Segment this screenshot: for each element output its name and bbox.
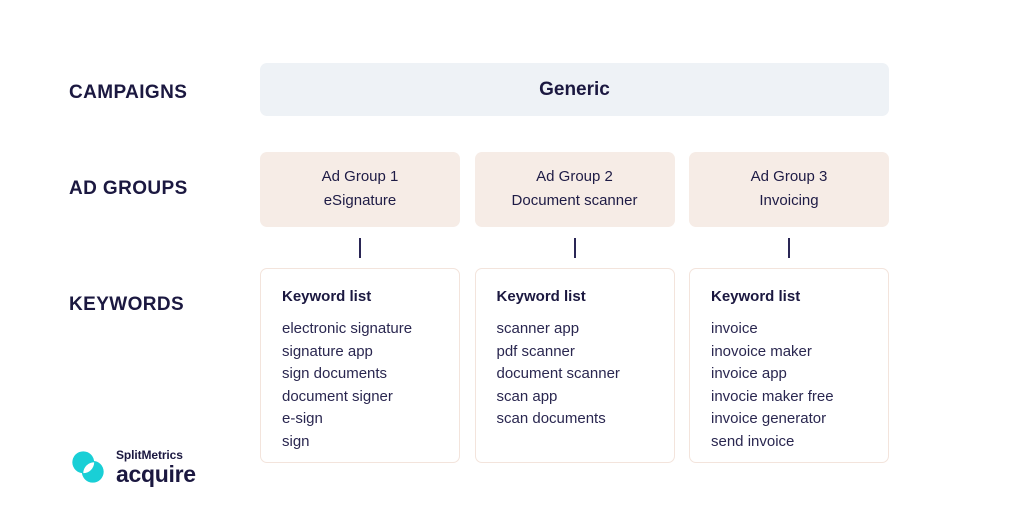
campaign-box: Generic [260, 63, 889, 116]
row-label-ad-groups: AD GROUPS [69, 178, 188, 200]
ad-group-columns: Ad Group 1 eSignature Keyword list elect… [260, 152, 889, 463]
keyword-item: scan documents [497, 408, 674, 431]
keyword-item: signature app [282, 341, 459, 364]
logo-acquire-text: acquire [116, 463, 196, 486]
connector-wrap [260, 227, 460, 268]
keyword-item: scan app [497, 386, 674, 409]
keyword-item: e-sign [282, 408, 459, 431]
keyword-list: invoiceinovoice makerinvoice appinvocie … [711, 318, 888, 453]
keyword-item: scanner app [497, 318, 674, 341]
keyword-list-heading: Keyword list [282, 288, 459, 305]
keyword-list: electronic signaturesignature appsign do… [282, 318, 459, 453]
keyword-item: document scanner [497, 363, 674, 386]
splitmetrics-circles-icon [69, 448, 107, 486]
keyword-box: Keyword list electronic signaturesignatu… [260, 268, 460, 463]
connector-wrap [689, 227, 889, 268]
keyword-item: pdf scanner [497, 341, 674, 364]
ad-group-box: Ad Group 3 Invoicing [689, 152, 889, 227]
campaign-name: Generic [539, 79, 610, 101]
ad-group-box: Ad Group 2 Document scanner [475, 152, 675, 227]
ad-group-name: Ad Group 3 [751, 168, 828, 187]
keyword-list: scanner apppdf scannerdocument scannersc… [497, 318, 674, 431]
keyword-item: document signer [282, 386, 459, 409]
ad-group-column: Ad Group 2 Document scanner Keyword list… [475, 152, 675, 463]
connector-line-icon [788, 238, 790, 258]
keyword-item: send invoice [711, 431, 888, 454]
keyword-list-heading: Keyword list [711, 288, 888, 305]
keyword-item: sign documents [282, 363, 459, 386]
ad-group-theme: Document scanner [512, 192, 638, 211]
ad-group-name: Ad Group 2 [536, 168, 613, 187]
ad-group-theme: Invoicing [759, 192, 818, 211]
ad-group-box: Ad Group 1 eSignature [260, 152, 460, 227]
connector-wrap [475, 227, 675, 268]
keyword-item: invocie maker free [711, 386, 888, 409]
keyword-item: electronic signature [282, 318, 459, 341]
ad-group-name: Ad Group 1 [322, 168, 399, 187]
keyword-item: sign [282, 431, 459, 454]
keyword-box: Keyword list scanner apppdf scannerdocum… [475, 268, 675, 463]
logo-splitmetrics-text: SplitMetrics [116, 449, 196, 461]
keyword-box: Keyword list invoiceinovoice makerinvoic… [689, 268, 889, 463]
keyword-item: invoice [711, 318, 888, 341]
row-label-keywords: KEYWORDS [69, 294, 184, 316]
ad-group-theme: eSignature [324, 192, 397, 211]
keyword-item: invoice generator [711, 408, 888, 431]
logo-wordmark: SplitMetrics acquire [116, 449, 196, 486]
keyword-list-heading: Keyword list [497, 288, 674, 305]
ad-group-column: Ad Group 1 eSignature Keyword list elect… [260, 152, 460, 463]
splitmetrics-acquire-logo: SplitMetrics acquire [69, 448, 196, 486]
keyword-structure-diagram: CAMPAIGNS AD GROUPS KEYWORDS Generic Ad … [0, 0, 1024, 532]
keyword-item: invoice app [711, 363, 888, 386]
row-label-campaigns: CAMPAIGNS [69, 82, 187, 104]
connector-line-icon [574, 238, 576, 258]
connector-line-icon [359, 238, 361, 258]
ad-group-column: Ad Group 3 Invoicing Keyword list invoic… [689, 152, 889, 463]
keyword-item: inovoice maker [711, 341, 888, 364]
